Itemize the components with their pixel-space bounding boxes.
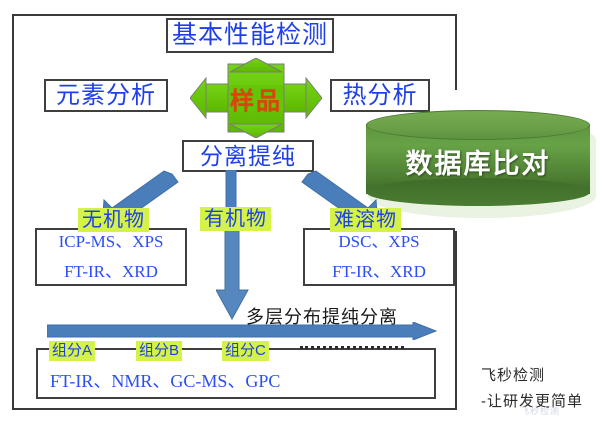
outer-frame-right-lower xyxy=(455,231,457,410)
sample-cross-arrow: 样品 xyxy=(190,58,322,138)
node-basic-performance: 基本性能检测 xyxy=(166,18,334,53)
watermark: 飞秒检测 xyxy=(520,404,560,417)
component-label-b: 组分B xyxy=(136,341,182,361)
database-label: 数据库比对 xyxy=(366,126,590,196)
component-label-a: 组分A xyxy=(49,341,95,361)
component-ellipsis-line xyxy=(300,346,404,349)
method-line: FT-IR、XRD xyxy=(64,257,158,287)
category-label-organic: 有机物 xyxy=(200,207,271,231)
category-label-insoluble: 难溶物 xyxy=(330,208,401,232)
node-thermal-analysis: 热分析 xyxy=(330,79,430,112)
outer-frame-right-upper xyxy=(455,14,457,90)
multilayer-progress-arrow xyxy=(47,322,437,340)
methods-box-insoluble: DSC、XPS FT-IR、XRD xyxy=(303,228,455,286)
outer-frame-left xyxy=(12,14,14,410)
category-label-inorganic: 无机物 xyxy=(78,208,149,232)
database-cylinder: 数据库比对 xyxy=(366,110,590,206)
diagram-canvas: 基本性能检测 样品 xyxy=(0,0,602,422)
node-separation-purification: 分离提纯 xyxy=(182,140,314,172)
outer-frame-top xyxy=(12,14,457,16)
node-element-analysis: 元素分析 xyxy=(44,79,168,112)
brand-line-1: 飞秒检测 xyxy=(481,363,583,389)
component-label-c: 组分C xyxy=(222,341,269,361)
component-methods: FT-IR、NMR、GC-MS、GPC xyxy=(50,367,280,393)
method-line: FT-IR、XRD xyxy=(332,257,426,287)
sample-label: 样品 xyxy=(190,58,322,138)
outer-frame-bottom xyxy=(12,408,457,410)
methods-box-inorganic: ICP-MS、XPS FT-IR、XRD xyxy=(35,228,187,286)
arrow-organic-to-multilayer xyxy=(216,228,250,320)
